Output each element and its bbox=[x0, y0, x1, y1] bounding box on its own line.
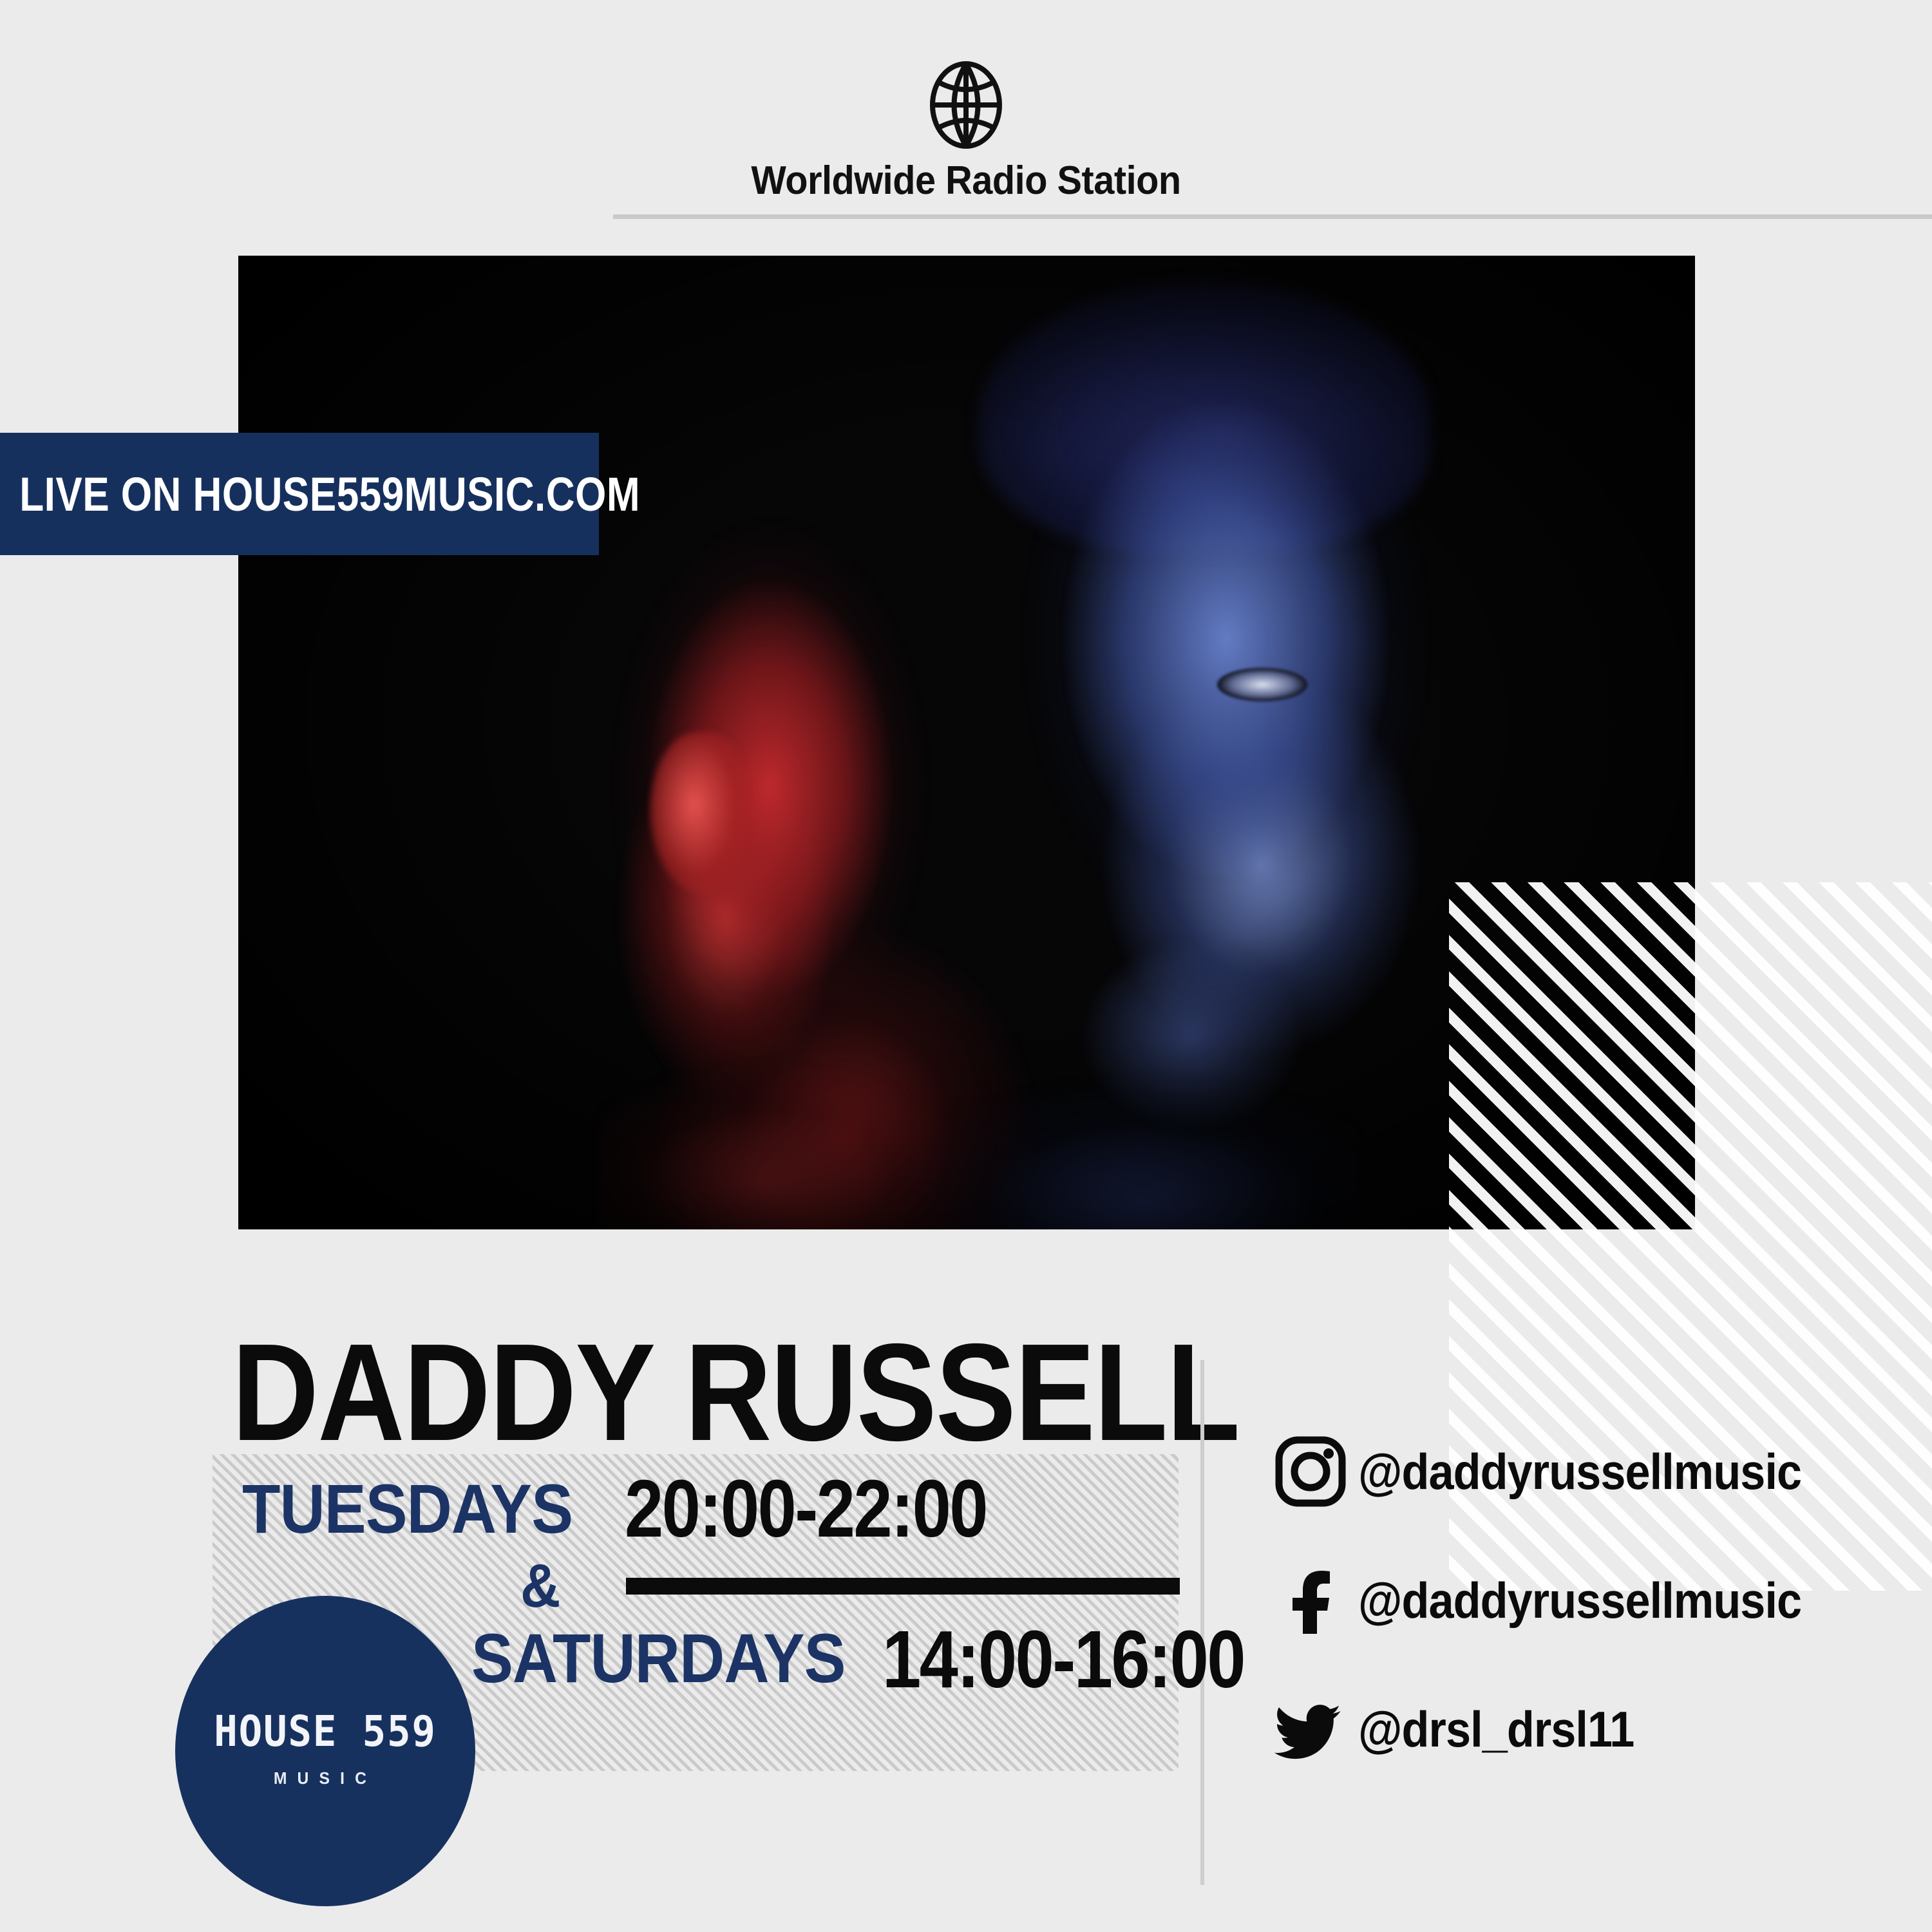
logo-subtitle: MUSIC bbox=[183, 1768, 468, 1788]
social-row-twitter[interactable]: @drsl_drsl11 bbox=[1272, 1665, 1916, 1794]
promo-poster: Worldwide Radio Station LIVE ON HOUSE559… bbox=[0, 0, 1932, 1932]
facebook-icon bbox=[1272, 1564, 1349, 1636]
live-banner: LIVE ON HOUSE559MUSIC.COM bbox=[0, 433, 599, 555]
schedule-day-saturdays: SATURDAYS bbox=[471, 1618, 846, 1698]
social-handle-instagram: @daddyrussellmusic bbox=[1358, 1443, 1801, 1501]
schedule-time-saturdays: 14:00-16:00 bbox=[882, 1613, 1244, 1706]
live-banner-text: LIVE ON HOUSE559MUSIC.COM bbox=[0, 467, 640, 522]
social-row-instagram[interactable]: @daddyrussellmusic bbox=[1272, 1407, 1916, 1536]
page-title: DADDY RUSSELL bbox=[232, 1312, 1239, 1472]
globe-icon bbox=[929, 61, 1003, 149]
social-row-facebook[interactable]: @daddyrussellmusic bbox=[1272, 1536, 1916, 1665]
photo-vignette bbox=[238, 256, 1695, 1229]
schedule-day-tuesdays: TUESDAYS bbox=[242, 1468, 573, 1549]
schedule-time-tuesdays: 20:00-22:00 bbox=[625, 1462, 987, 1555]
header-divider bbox=[613, 214, 1932, 219]
instagram-icon bbox=[1272, 1435, 1349, 1508]
twitter-icon bbox=[1272, 1693, 1349, 1765]
artist-portrait-photo bbox=[238, 256, 1695, 1229]
logo-name: HOUSE 559 bbox=[187, 1707, 464, 1756]
house559-logo: HOUSE 559 MUSIC bbox=[175, 1596, 475, 1906]
schedule-underline bbox=[626, 1578, 1180, 1595]
social-handle-twitter: @drsl_drsl11 bbox=[1358, 1700, 1634, 1759]
schedule-conjunction: & bbox=[520, 1551, 560, 1622]
social-handle-facebook: @daddyrussellmusic bbox=[1358, 1571, 1801, 1630]
station-name: Worldwide Radio Station bbox=[68, 158, 1864, 204]
social-links: @daddyrussellmusic @daddyrussellmusic @d… bbox=[1272, 1407, 1916, 1794]
poster-header: Worldwide Radio Station bbox=[0, 0, 1932, 219]
